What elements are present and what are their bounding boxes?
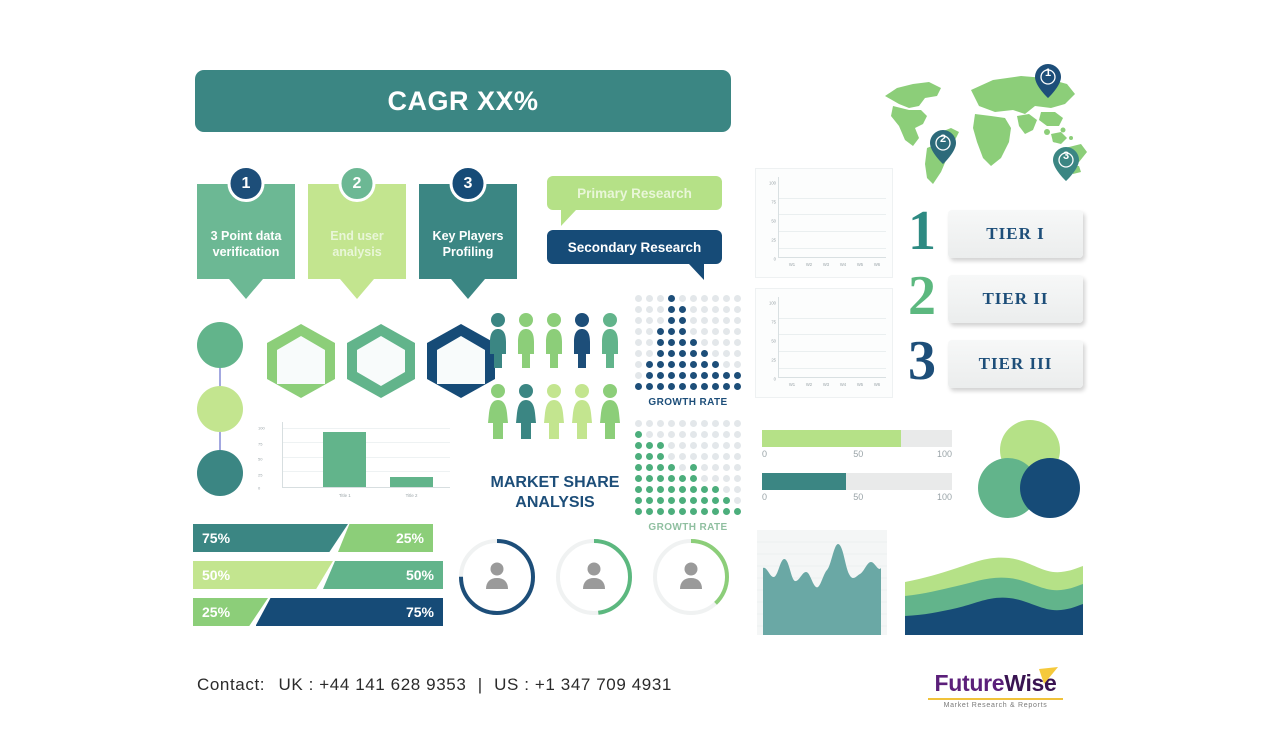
stk1-yl-2: 50 bbox=[758, 219, 776, 224]
matrix-dot bbox=[679, 420, 687, 428]
bar-xlabel: W2 bbox=[802, 262, 816, 267]
matrix-dot bbox=[668, 350, 676, 358]
dot-matrix-label-navy: GROWTH RATE bbox=[633, 397, 743, 408]
person-female-5 bbox=[597, 383, 623, 446]
matrix-dot bbox=[657, 383, 665, 391]
tier-list: 1 TIER I 2 TIER II 3 TIER III bbox=[908, 210, 1083, 405]
market-share-title: MARKET SHARE ANALYSIS bbox=[470, 473, 640, 513]
progress-scale-2: 0 50 100 bbox=[762, 492, 952, 507]
matrix-dot bbox=[646, 420, 654, 428]
step-tail-2 bbox=[340, 279, 374, 299]
matrix-dot bbox=[646, 508, 654, 516]
matrix-dot bbox=[712, 383, 720, 391]
matrix-dot bbox=[690, 497, 698, 505]
matrix-dot bbox=[712, 350, 720, 358]
mini-bar-xlabel-1: Title 1 bbox=[320, 493, 370, 498]
matrix-dot bbox=[657, 328, 665, 336]
matrix-dot bbox=[657, 442, 665, 450]
stk2-yl-1: 75 bbox=[758, 320, 776, 325]
progress-1-tick-2: 100 bbox=[937, 449, 952, 459]
matrix-dot bbox=[723, 431, 731, 439]
tier-number-2: 2 bbox=[908, 268, 936, 324]
tier-item-1[interactable]: 1 TIER I bbox=[908, 210, 1083, 258]
stk1-yl-3: 25 bbox=[758, 238, 776, 243]
donut-ring bbox=[649, 535, 733, 619]
contact-label: Contact: bbox=[197, 675, 265, 694]
tier-label-1: TIER I bbox=[948, 210, 1083, 258]
donut-chart-2[interactable] bbox=[552, 535, 636, 619]
matrix-dot bbox=[635, 328, 643, 336]
matrix-dot bbox=[712, 317, 720, 325]
matrix-dot bbox=[712, 306, 720, 314]
circle-chain bbox=[197, 322, 243, 496]
matrix-dot bbox=[723, 361, 731, 369]
progress-1-tick-0: 0 bbox=[762, 449, 767, 459]
matrix-dot bbox=[679, 328, 687, 336]
stk2-yl-3: 25 bbox=[758, 358, 776, 363]
person-female-4 bbox=[569, 383, 595, 446]
matrix-dot bbox=[723, 453, 731, 461]
person-female-2 bbox=[513, 383, 539, 446]
person-icon bbox=[486, 563, 508, 590]
dot-matrix-grid-navy bbox=[633, 293, 743, 392]
matrix-dot bbox=[734, 372, 742, 380]
matrix-dot bbox=[679, 317, 687, 325]
hexagon-icon-1 bbox=[265, 322, 337, 400]
matrix-dot bbox=[712, 508, 720, 516]
map-pin-2-number: 2 bbox=[930, 133, 956, 145]
matrix-dot bbox=[635, 361, 643, 369]
matrix-dot bbox=[679, 453, 687, 461]
matrix-dot bbox=[668, 420, 676, 428]
matrix-dot bbox=[657, 431, 665, 439]
gridline bbox=[779, 214, 886, 215]
person-female-3 bbox=[541, 383, 567, 446]
progress-bar-group: 0 50 100 0 50 100 bbox=[762, 430, 952, 516]
progress-2-tick-2: 100 bbox=[937, 492, 952, 502]
logo-arrow-icon bbox=[1037, 664, 1059, 691]
matrix-dot bbox=[679, 508, 687, 516]
stk1-yl-1: 75 bbox=[758, 200, 776, 205]
mini-bar-ylabel-3: 25 bbox=[258, 473, 262, 478]
matrix-dot bbox=[690, 328, 698, 336]
matrix-dot bbox=[723, 306, 731, 314]
mini-bar-ylabel-1: 75 bbox=[258, 441, 262, 446]
percent-row-3-right: 75% bbox=[256, 598, 444, 626]
chain-link-1 bbox=[219, 368, 221, 386]
matrix-dot bbox=[701, 475, 709, 483]
matrix-dot bbox=[723, 372, 731, 380]
matrix-dot bbox=[723, 464, 731, 472]
bar-xlabel: W6 bbox=[870, 262, 884, 267]
matrix-dot bbox=[734, 350, 742, 358]
person-icon bbox=[583, 563, 605, 590]
matrix-dot bbox=[701, 295, 709, 303]
matrix-dot bbox=[701, 453, 709, 461]
percent-row-1: 75% 25% bbox=[193, 524, 443, 552]
matrix-dot bbox=[646, 306, 654, 314]
matrix-dot bbox=[723, 475, 731, 483]
matrix-dot bbox=[701, 464, 709, 472]
stacked-chart-2: W1W2W3W4W5W6 100 75 50 25 0 bbox=[755, 288, 893, 398]
matrix-dot bbox=[712, 486, 720, 494]
donut-ring bbox=[552, 535, 636, 619]
matrix-dot bbox=[690, 508, 698, 516]
matrix-dot bbox=[646, 372, 654, 380]
matrix-dot bbox=[646, 317, 654, 325]
matrix-dot bbox=[679, 486, 687, 494]
tier-number-3: 3 bbox=[908, 333, 936, 389]
matrix-dot bbox=[723, 328, 731, 336]
matrix-dot bbox=[635, 295, 643, 303]
gridline bbox=[779, 334, 886, 335]
matrix-dot bbox=[690, 306, 698, 314]
venn-circle-3 bbox=[1020, 458, 1080, 518]
bar-xlabel: W3 bbox=[819, 382, 833, 387]
matrix-dot bbox=[646, 383, 654, 391]
matrix-dot bbox=[734, 361, 742, 369]
person-male-4 bbox=[569, 312, 595, 375]
matrix-dot bbox=[712, 420, 720, 428]
matrix-dot bbox=[701, 431, 709, 439]
matrix-dot bbox=[635, 508, 643, 516]
matrix-dot bbox=[690, 453, 698, 461]
people-icons bbox=[485, 312, 623, 446]
matrix-dot bbox=[635, 486, 643, 494]
step-card-3[interactable]: 3 Key Players Profiling bbox=[419, 184, 517, 299]
matrix-dot bbox=[679, 350, 687, 358]
matrix-dot bbox=[690, 383, 698, 391]
matrix-dot bbox=[734, 486, 742, 494]
matrix-dot bbox=[635, 431, 643, 439]
matrix-dot bbox=[668, 442, 676, 450]
market-share-line-2: ANALYSIS bbox=[470, 493, 640, 513]
matrix-dot bbox=[712, 328, 720, 336]
bar-xlabel: W6 bbox=[870, 382, 884, 387]
percent-row-2-left: 50% bbox=[193, 561, 333, 589]
bubble-secondary-research[interactable]: Secondary Research bbox=[547, 230, 722, 280]
logo-rule bbox=[928, 698, 1063, 700]
matrix-dot bbox=[712, 464, 720, 472]
step-badge-1: 1 bbox=[228, 165, 265, 202]
matrix-dot bbox=[701, 486, 709, 494]
matrix-dot bbox=[679, 383, 687, 391]
matrix-dot bbox=[690, 361, 698, 369]
matrix-dot bbox=[646, 497, 654, 505]
chain-link-2 bbox=[219, 432, 221, 450]
matrix-dot bbox=[668, 383, 676, 391]
gridline bbox=[779, 248, 886, 249]
area-chart-1-svg bbox=[757, 530, 887, 635]
step-badge-2: 2 bbox=[339, 165, 376, 202]
matrix-dot bbox=[734, 383, 742, 391]
contact-separator: | bbox=[478, 675, 483, 694]
matrix-dot bbox=[657, 350, 665, 358]
matrix-dot bbox=[723, 442, 731, 450]
percent-row-2: 50% 50% bbox=[193, 561, 443, 589]
matrix-dot bbox=[712, 372, 720, 380]
matrix-dot bbox=[701, 328, 709, 336]
percent-row-3-left: 25% bbox=[193, 598, 268, 626]
person-male-1 bbox=[485, 312, 511, 375]
contact-us: US : +1 347 709 4931 bbox=[494, 675, 672, 694]
market-share-line-1: MARKET SHARE bbox=[470, 473, 640, 493]
matrix-dot bbox=[657, 361, 665, 369]
gridline bbox=[779, 318, 886, 319]
progress-1-tick-1: 50 bbox=[853, 449, 863, 459]
matrix-dot bbox=[635, 306, 643, 314]
matrix-dot bbox=[646, 464, 654, 472]
matrix-dot bbox=[701, 317, 709, 325]
matrix-dot bbox=[668, 339, 676, 347]
matrix-dot bbox=[734, 442, 742, 450]
matrix-dot bbox=[690, 317, 698, 325]
matrix-dot bbox=[646, 361, 654, 369]
matrix-dot bbox=[657, 464, 665, 472]
person-female-1 bbox=[485, 383, 511, 446]
matrix-dot bbox=[701, 339, 709, 347]
mini-bar-chart: Title 1 Title 2 100 75 50 25 0 bbox=[258, 422, 450, 500]
matrix-dot bbox=[635, 464, 643, 472]
matrix-dot bbox=[657, 475, 665, 483]
matrix-dot bbox=[723, 486, 731, 494]
matrix-dot bbox=[679, 372, 687, 380]
percent-row-1-right: 25% bbox=[338, 524, 433, 552]
gridline bbox=[779, 368, 886, 369]
matrix-dot bbox=[635, 339, 643, 347]
matrix-dot bbox=[646, 328, 654, 336]
percent-row-1-left: 75% bbox=[193, 524, 348, 552]
dot-matrix-green: GROWTH RATE bbox=[633, 418, 743, 533]
matrix-dot bbox=[668, 295, 676, 303]
hexagon-row bbox=[265, 322, 497, 400]
percent-row-2-right: 50% bbox=[323, 561, 443, 589]
logo-part-1: Future bbox=[934, 670, 1004, 696]
matrix-dot bbox=[646, 475, 654, 483]
matrix-dot bbox=[734, 431, 742, 439]
stk1-yl-0: 100 bbox=[758, 181, 776, 186]
matrix-dot bbox=[635, 453, 643, 461]
matrix-dot bbox=[712, 431, 720, 439]
step-card-1[interactable]: 1 3 Point data verification bbox=[197, 184, 295, 299]
matrix-dot bbox=[690, 295, 698, 303]
matrix-dot bbox=[734, 328, 742, 336]
matrix-dot bbox=[635, 497, 643, 505]
donut-group bbox=[455, 535, 733, 619]
step-tail-1 bbox=[229, 279, 263, 299]
mini-bar-ylabel-0: 100 bbox=[258, 426, 265, 431]
matrix-dot bbox=[690, 350, 698, 358]
bubble-primary-tail bbox=[561, 210, 576, 226]
map-pin-1[interactable]: 1 bbox=[1035, 64, 1061, 98]
matrix-dot bbox=[657, 486, 665, 494]
bar-xlabel: W3 bbox=[819, 262, 833, 267]
matrix-dot bbox=[701, 361, 709, 369]
bar-xlabel: W1 bbox=[785, 262, 799, 267]
dot-matrix-label-green: GROWTH RATE bbox=[633, 522, 743, 533]
progress-2-tick-0: 0 bbox=[762, 492, 767, 502]
map-pin-3-number: 3 bbox=[1053, 150, 1079, 162]
matrix-dot bbox=[712, 453, 720, 461]
progress-track-2[interactable] bbox=[762, 473, 952, 490]
bar-xlabel: W4 bbox=[836, 262, 850, 267]
matrix-dot bbox=[701, 383, 709, 391]
matrix-dot bbox=[646, 350, 654, 358]
matrix-dot bbox=[679, 361, 687, 369]
mini-bar-plot: Title 1 Title 2 bbox=[282, 422, 450, 488]
map-pin-1-number: 1 bbox=[1035, 67, 1061, 79]
stacked-chart-1: W1W2W3W4W5W6 100 75 50 25 0 bbox=[755, 168, 893, 278]
hexagon-icon-2 bbox=[345, 322, 417, 400]
bubble-primary-research[interactable]: Primary Research bbox=[547, 176, 722, 226]
contact-line: Contact: UK : +44 141 628 9353 | US : +1… bbox=[197, 675, 672, 695]
matrix-dot bbox=[657, 306, 665, 314]
chain-dot-3 bbox=[197, 450, 243, 496]
matrix-dot bbox=[635, 383, 643, 391]
matrix-dot bbox=[657, 420, 665, 428]
matrix-dot bbox=[734, 339, 742, 347]
futurewise-logo[interactable]: FutureWise Market Research & Reports bbox=[928, 670, 1063, 709]
stk1-yl-4: 0 bbox=[758, 257, 776, 262]
logo-wordmark: FutureWise bbox=[934, 670, 1056, 697]
chain-dot-2 bbox=[197, 386, 243, 432]
matrix-dot bbox=[723, 508, 731, 516]
matrix-dot bbox=[701, 497, 709, 505]
matrix-dot bbox=[734, 464, 742, 472]
bar-xlabel: W5 bbox=[853, 382, 867, 387]
chain-dot-1 bbox=[197, 322, 243, 368]
person-male-5 bbox=[597, 312, 623, 375]
progress-fill-2 bbox=[762, 473, 846, 490]
matrix-dot bbox=[668, 361, 676, 369]
matrix-dot bbox=[679, 431, 687, 439]
matrix-dot bbox=[657, 497, 665, 505]
matrix-dot bbox=[734, 420, 742, 428]
matrix-dot bbox=[679, 497, 687, 505]
mini-bar-1 bbox=[323, 432, 366, 487]
area-chart-1 bbox=[757, 530, 887, 635]
mini-bar-xlabel-2: Title 2 bbox=[387, 493, 437, 498]
stacked-chart-1-plot: W1W2W3W4W5W6 bbox=[778, 177, 886, 258]
donut-chart-1[interactable] bbox=[455, 535, 539, 619]
matrix-dot bbox=[679, 339, 687, 347]
matrix-dot bbox=[679, 464, 687, 472]
dot-matrix-navy: GROWTH RATE bbox=[633, 293, 743, 408]
matrix-dot bbox=[723, 350, 731, 358]
matrix-dot bbox=[668, 317, 676, 325]
matrix-dot bbox=[712, 475, 720, 483]
matrix-dot bbox=[712, 497, 720, 505]
matrix-dot bbox=[668, 431, 676, 439]
world-map: 1 2 3 bbox=[875, 62, 1090, 192]
map-pin-3[interactable]: 3 bbox=[1053, 147, 1079, 181]
bar-xlabel: W4 bbox=[836, 382, 850, 387]
matrix-dot bbox=[690, 339, 698, 347]
matrix-dot bbox=[712, 339, 720, 347]
matrix-dot bbox=[690, 420, 698, 428]
matrix-dot bbox=[679, 475, 687, 483]
matrix-dot bbox=[679, 442, 687, 450]
tier-item-2[interactable]: 2 TIER II bbox=[908, 275, 1083, 323]
matrix-dot bbox=[734, 475, 742, 483]
matrix-dot bbox=[712, 361, 720, 369]
matrix-dot bbox=[723, 317, 731, 325]
cagr-title: CAGR XX% bbox=[387, 86, 538, 117]
matrix-dot bbox=[701, 350, 709, 358]
matrix-dot bbox=[734, 497, 742, 505]
matrix-dot bbox=[734, 453, 742, 461]
step-badge-3: 3 bbox=[450, 165, 487, 202]
matrix-dot bbox=[668, 486, 676, 494]
person-icon bbox=[680, 563, 702, 590]
step-card-2[interactable]: 2 End user analysis bbox=[308, 184, 406, 299]
matrix-dot bbox=[723, 497, 731, 505]
bubble-secondary-tail bbox=[689, 264, 704, 280]
matrix-dot bbox=[668, 464, 676, 472]
people-row-female bbox=[485, 383, 623, 446]
matrix-dot bbox=[635, 317, 643, 325]
matrix-dot bbox=[679, 295, 687, 303]
progress-track-1[interactable] bbox=[762, 430, 952, 447]
matrix-dot bbox=[734, 295, 742, 303]
matrix-dot bbox=[701, 442, 709, 450]
bubble-secondary-label: Secondary Research bbox=[547, 230, 722, 264]
matrix-dot bbox=[690, 464, 698, 472]
progress-scale-1: 0 50 100 bbox=[762, 449, 952, 464]
matrix-dot bbox=[690, 475, 698, 483]
map-pin-2[interactable]: 2 bbox=[930, 130, 956, 164]
matrix-dot bbox=[657, 508, 665, 516]
matrix-dot bbox=[635, 372, 643, 380]
donut-ring bbox=[455, 535, 539, 619]
bar-xlabel: W1 bbox=[785, 382, 799, 387]
area-chart-2-svg bbox=[905, 530, 1083, 635]
tier-label-2: TIER II bbox=[948, 275, 1083, 323]
progress-2-tick-1: 50 bbox=[853, 492, 863, 502]
bar-xlabel: W5 bbox=[853, 262, 867, 267]
donut-chart-3[interactable] bbox=[649, 535, 733, 619]
matrix-dot bbox=[734, 306, 742, 314]
matrix-dot bbox=[635, 475, 643, 483]
matrix-dot bbox=[657, 339, 665, 347]
matrix-dot bbox=[712, 295, 720, 303]
matrix-dot bbox=[723, 383, 731, 391]
matrix-dot bbox=[668, 306, 676, 314]
matrix-dot bbox=[690, 486, 698, 494]
matrix-dot bbox=[657, 372, 665, 380]
matrix-dot bbox=[723, 420, 731, 428]
tier-item-3[interactable]: 3 TIER III bbox=[908, 340, 1083, 388]
gridline bbox=[779, 231, 886, 232]
matrix-dot bbox=[668, 508, 676, 516]
tier-number-1: 1 bbox=[908, 203, 936, 259]
person-male-3 bbox=[541, 312, 567, 375]
mini-bar-2 bbox=[390, 477, 433, 487]
matrix-dot bbox=[712, 442, 720, 450]
matrix-dot bbox=[646, 431, 654, 439]
logo-tagline: Market Research & Reports bbox=[928, 702, 1063, 709]
infographic-root: CAGR XX% 1 3 Point data verification 2 E… bbox=[0, 0, 1280, 731]
matrix-dot bbox=[668, 475, 676, 483]
matrix-dot bbox=[646, 453, 654, 461]
bubble-primary-label: Primary Research bbox=[547, 176, 722, 210]
stk2-yl-4: 0 bbox=[758, 377, 776, 382]
matrix-dot bbox=[668, 328, 676, 336]
percent-row-3: 25% 75% bbox=[193, 598, 443, 626]
matrix-dot bbox=[701, 508, 709, 516]
matrix-dot bbox=[723, 339, 731, 347]
matrix-dot bbox=[646, 339, 654, 347]
